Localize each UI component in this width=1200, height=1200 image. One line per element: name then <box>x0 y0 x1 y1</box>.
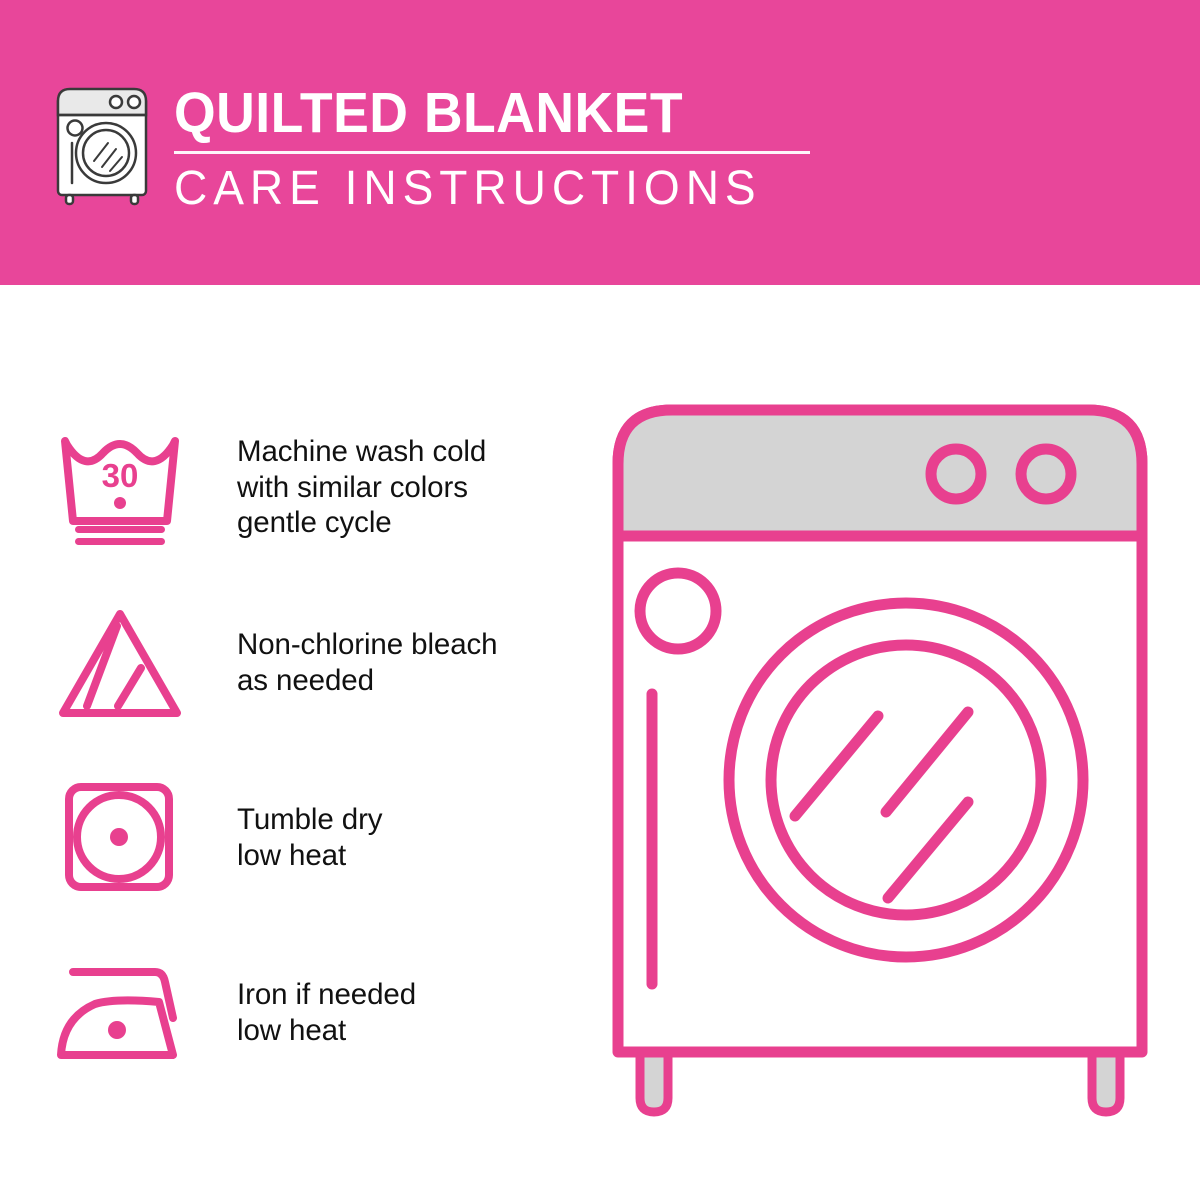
care-text-iron: Iron if needed low heat <box>205 977 416 1048</box>
knob-right <box>1021 449 1071 499</box>
leg-right <box>1092 1048 1120 1112</box>
care-text-bleach: Non-chlorine bleach as needed <box>205 627 497 698</box>
tumble-dry-low-icon <box>55 775 205 900</box>
care-row-bleach: Non-chlorine bleach as needed <box>55 575 575 750</box>
header-band: QUILTED BLANKET CARE INSTRUCTIONS <box>0 0 1200 285</box>
front-load-washing-machine-illustration <box>610 398 1150 1118</box>
non-chlorine-bleach-triangle-icon <box>55 600 205 725</box>
care-instructions-page: QUILTED BLANKET CARE INSTRUCTIONS 30 <box>0 0 1200 1200</box>
leg-left <box>640 1048 668 1112</box>
care-instructions-list: 30 Machine wash cold with similar colors… <box>55 400 575 1100</box>
wash-tub-30-icon: 30 <box>55 425 205 550</box>
detergent-indicator <box>640 573 716 649</box>
page-title: QUILTED BLANKET <box>174 84 794 142</box>
care-row-iron: Iron if needed low heat <box>55 925 575 1100</box>
title-divider <box>174 151 810 154</box>
iron-low-heat-icon <box>55 958 205 1068</box>
washing-machine-icon <box>52 83 152 205</box>
care-text-wash: Machine wash cold with similar colors ge… <box>205 434 486 541</box>
care-text-tumble-dry: Tumble dry low heat <box>205 802 382 873</box>
care-row-tumble-dry: Tumble dry low heat <box>55 750 575 925</box>
wash-temp-label: 30 <box>102 457 139 494</box>
page-subtitle: CARE INSTRUCTIONS <box>174 164 808 214</box>
care-row-wash: 30 Machine wash cold with similar colors… <box>55 400 575 575</box>
header-title-group: QUILTED BLANKET CARE INSTRUCTIONS <box>174 84 834 214</box>
knob-left <box>931 449 981 499</box>
